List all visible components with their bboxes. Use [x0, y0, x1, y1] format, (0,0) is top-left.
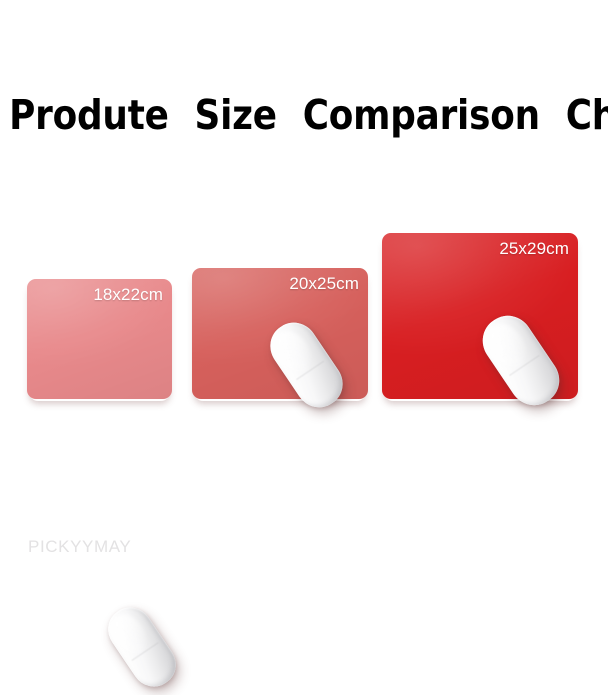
mousepad-item-large[interactable]: 25x29cm: [382, 233, 578, 399]
product-size-comparison-image: Produte Size Comparison Chart 18x22cm 20…: [0, 0, 608, 608]
size-label-small: 18x22cm: [93, 285, 163, 305]
mousepad-item-small[interactable]: 18x22cm: [27, 279, 172, 399]
watermark-brand: PICKYYMAY: [28, 537, 131, 557]
size-label-medium: 20x25cm: [289, 274, 359, 294]
mousepad-item-medium[interactable]: 20x25cm: [192, 268, 368, 399]
mouse-body: [100, 599, 185, 695]
computer-mouse-icon: [100, 599, 185, 695]
mousepad-comparison-row: 18x22cm 20x25cm: [0, 0, 608, 608]
size-label-large: 25x29cm: [499, 239, 569, 259]
